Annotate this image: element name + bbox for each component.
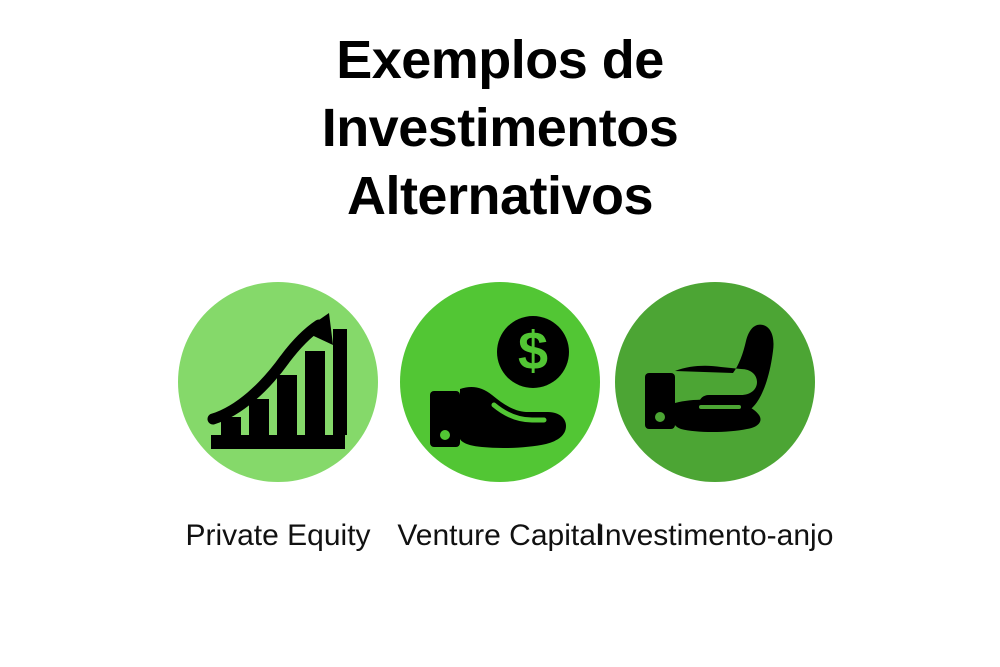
investment-item-angel-investment: Investimento-anjo xyxy=(600,282,830,555)
growth-bar-chart-arrow-icon xyxy=(203,307,353,457)
hand-holding-dollar-coin-icon: $ xyxy=(420,307,580,457)
investment-item-label-private-equity: Private Equity xyxy=(163,516,393,555)
page-title-line-3: Alternativos xyxy=(347,162,653,230)
page-title-line-1: Exemplos de xyxy=(336,26,664,94)
infographic-canvas: Exemplos de Investimentos Alternativos xyxy=(0,0,1000,667)
investment-item-label-angel-investment: Investimento-anjo xyxy=(591,516,839,555)
open-hand-giving-icon xyxy=(635,307,795,457)
investment-item-venture-capital: $ Venture Capital xyxy=(385,282,615,555)
investment-item-private-equity: Private Equity xyxy=(163,282,393,555)
icon-circle-angel-investment xyxy=(615,282,815,482)
investment-item-label-venture-capital: Venture Capital xyxy=(385,516,615,555)
investment-items-row: Private Equity $ xyxy=(0,282,1000,622)
icon-circle-private-equity xyxy=(178,282,378,482)
icon-circle-venture-capital: $ xyxy=(400,282,600,482)
page-title-line-2: Investimentos xyxy=(322,94,679,162)
svg-text:$: $ xyxy=(518,321,548,381)
page-title: Exemplos de Investimentos Alternativos xyxy=(0,26,1000,230)
